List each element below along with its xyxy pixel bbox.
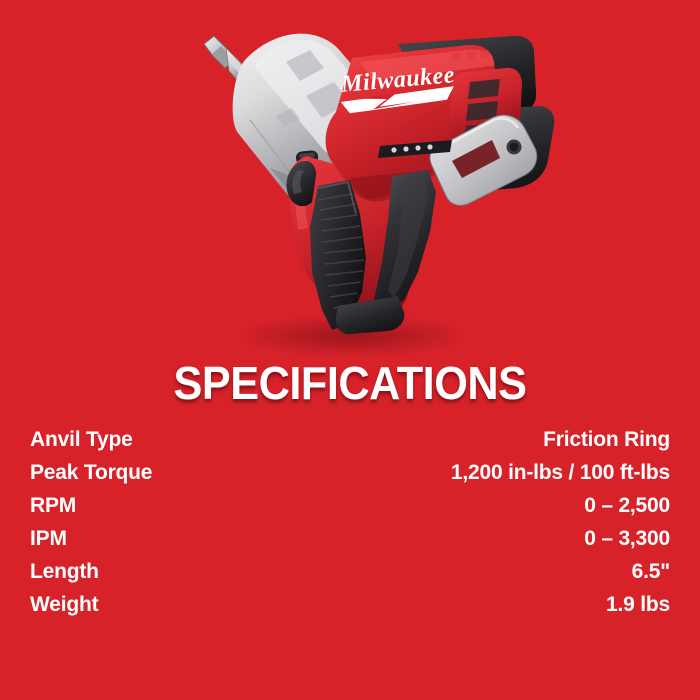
spec-label-rpm: RPM — [30, 489, 76, 522]
table-row: RPM 0 – 2,500 — [30, 489, 670, 522]
spec-value-weight: 1.9 lbs — [606, 588, 670, 621]
product-hero-image: Milwaukee — [0, 0, 700, 358]
table-row: Peak Torque 1,200 in-lbs / 100 ft-lbs — [30, 456, 670, 489]
spec-label-weight: Weight — [30, 588, 98, 621]
spec-label-length: Length — [30, 555, 99, 588]
spec-label-ipm: IPM — [30, 522, 67, 555]
specifications-page: Milwaukee SPECIFICATIONS Anvil Type Fric… — [0, 0, 700, 700]
table-row: IPM 0 – 3,300 — [30, 522, 670, 555]
spec-value-ipm: 0 – 3,300 — [584, 522, 670, 555]
spec-value-peak-torque: 1,200 in-lbs / 100 ft-lbs — [451, 456, 670, 489]
specifications-table: Anvil Type Friction Ring Peak Torque 1,2… — [30, 423, 670, 621]
spec-value-rpm: 0 – 2,500 — [584, 489, 670, 522]
table-row: Length 6.5" — [30, 555, 670, 588]
table-row: Weight 1.9 lbs — [30, 588, 670, 621]
spec-label-peak-torque: Peak Torque — [30, 456, 152, 489]
spec-value-anvil-type: Friction Ring — [543, 423, 670, 456]
table-row: Anvil Type Friction Ring — [30, 423, 670, 456]
spec-value-length: 6.5" — [632, 555, 670, 588]
page-title: SPECIFICATIONS — [21, 360, 679, 406]
impact-wrench-illustration: Milwaukee — [0, 0, 700, 358]
spec-label-anvil-type: Anvil Type — [30, 423, 133, 456]
